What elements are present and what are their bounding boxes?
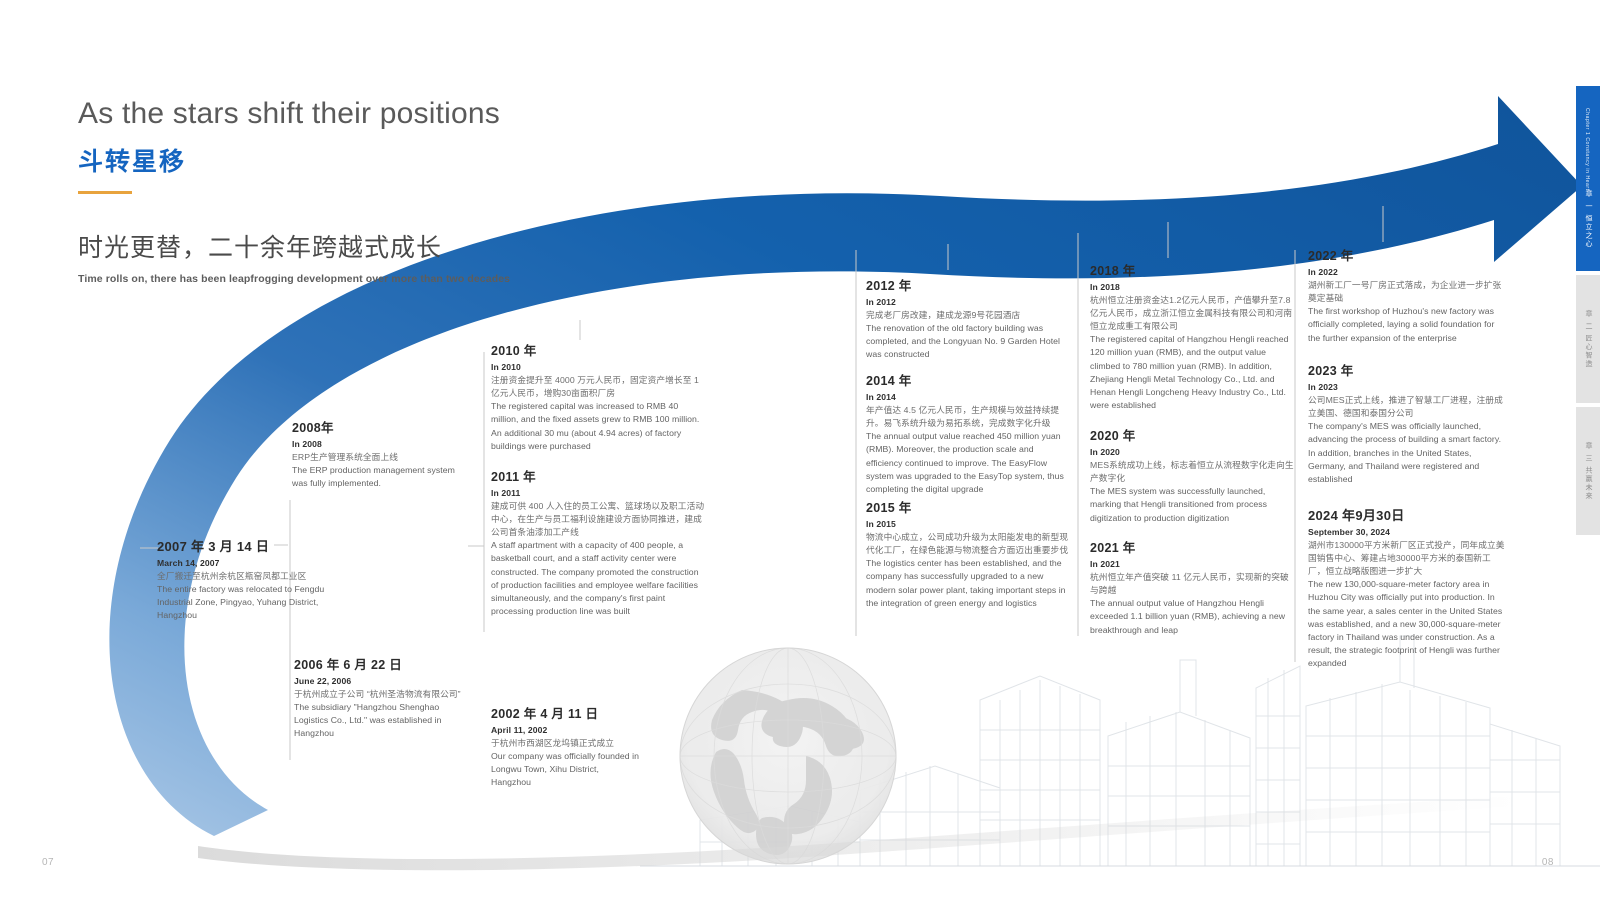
entry-text-en: The registered capital of Hangzhou Hengl… (1090, 333, 1295, 412)
entry-subtitle: In 2008 (292, 439, 460, 449)
chapter-tab-1-en: Chapter 1 Constancy in Heart (1584, 108, 1590, 191)
timeline-entry-2024: 2024 年9月30日 September 30, 2024 湖州市130000… (1308, 505, 1506, 671)
entry-subtitle: In 2022 (1308, 267, 1506, 277)
entry-text-cn: 湖州新工厂一号厂房正式落成，为企业进一步扩张奠定基础 (1308, 279, 1506, 305)
entry-subtitle: September 30, 2024 (1308, 527, 1506, 537)
chapter-tab-2-cn: 章 二 匠心智造 (1583, 310, 1593, 369)
chapter-tab-3-cn: 章 三 共赢未来 (1583, 442, 1593, 501)
page-canvas: As the stars shift their positions 斗转星移 … (0, 0, 1600, 916)
page-header: As the stars shift their positions 斗转星移 … (78, 96, 718, 285)
entry-text-cn: 杭州恒立注册资金达1.2亿元人民币，产值攀升至7.8 亿元人民币，成立浙江恒立金… (1090, 294, 1295, 333)
entry-text-en: A staff apartment with a capacity of 400… (491, 539, 707, 618)
entry-title: 2002 年 4 月 11 日 (491, 703, 641, 722)
entry-title: 2023 年 (1308, 360, 1506, 379)
entry-title: 2011 年 (491, 466, 707, 485)
timeline-entry-2015: 2015 年 In 2015 物流中心成立，公司成功升级为太阳能发电的新型现代化… (866, 497, 1071, 610)
timeline-entry-2014: 2014 年 In 2014 年产值达 4.5 亿元人民币，生产规模与效益持续提… (866, 370, 1071, 496)
entry-text-cn: 年产值达 4.5 亿元人民币，生产规模与效益持续提升。易飞系统升级为易拓系统，完… (866, 404, 1071, 430)
entry-title: 2018 年 (1090, 260, 1295, 279)
timeline-entry-2002: 2002 年 4 月 11 日 April 11, 2002 于杭州市西湖区龙坞… (491, 703, 641, 790)
subtitle-en: Time rolls on, there has been leapfroggi… (78, 273, 718, 285)
page-title-cn: 斗转星移 (78, 142, 718, 178)
entry-text-cn: MES系统成功上线，标志着恒立从流程数字化走向生产数字化 (1090, 459, 1295, 485)
timeline-entry-2008: 2008年 In 2008 ERP生产管理系统全面上线 The ERP prod… (292, 417, 460, 490)
entry-text-en: The new 130,000-square-meter factory are… (1308, 578, 1506, 671)
entry-text-en: The renovation of the old factory buildi… (866, 322, 1071, 362)
entry-text-en: The first workshop of Huzhou's new facto… (1308, 305, 1506, 345)
entry-title: 2020 年 (1090, 425, 1295, 444)
entry-subtitle: June 22, 2006 (294, 676, 462, 686)
timeline-entry-2021: 2021 年 In 2021 杭州恒立年产值突破 11 亿元人民币，实现新的突破… (1090, 537, 1295, 637)
chapter-tab-2[interactable]: 章 二 匠心智造 (1576, 275, 1600, 403)
entry-text-cn: 于杭州市西湖区龙坞镇正式成立 (491, 737, 641, 750)
arrow-tail-shadow (198, 796, 1520, 870)
entry-text-en: The entire factory was relocated to Feng… (157, 583, 325, 623)
entry-text-cn: 杭州恒立年产值突破 11 亿元人民币，实现新的突破与跨越 (1090, 571, 1295, 597)
globe-graphic (680, 648, 896, 864)
entry-subtitle: In 2012 (866, 297, 1071, 307)
entry-subtitle: In 2015 (866, 519, 1071, 529)
entry-title: 2012 年 (866, 275, 1071, 294)
entry-text-en: The registered capital was increased to … (491, 400, 707, 453)
entry-text-cn: 公司MES正式上线，推进了智慧工厂进程，注册成立美国、德国和泰国分公司 (1308, 394, 1506, 420)
timeline-entry-2007: 2007 年 3 月 14 日 March 14, 2007 全厂搬迁至杭州余杭… (157, 536, 325, 623)
chapter-tab-1[interactable]: Chapter 1 Constancy in Heart 章 一 恒立之心 (1576, 86, 1600, 271)
timeline-entry-2023: 2023 年 In 2023 公司MES正式上线，推进了智慧工厂进程，注册成立美… (1308, 360, 1506, 486)
page-number-right: 08 (1542, 857, 1554, 868)
entry-subtitle: In 2010 (491, 362, 707, 372)
timeline-entry-2011: 2011 年 In 2011 建成可供 400 人入住的员工公寓、篮球场以及职工… (491, 466, 707, 618)
entry-subtitle: In 2011 (491, 488, 707, 498)
timeline-entry-2022: 2022 年 In 2022 湖州新工厂一号厂房正式落成，为企业进一步扩张奠定基… (1308, 245, 1506, 345)
timeline-entry-2006: 2006 年 6 月 22 日 June 22, 2006 于杭州成立子公司 “… (294, 654, 462, 741)
entry-text-cn: 全厂搬迁至杭州余杭区瓶窑凤都工业区 (157, 570, 325, 583)
entry-subtitle: In 2021 (1090, 559, 1295, 569)
entry-text-cn: 建成可供 400 人入住的员工公寓、篮球场以及职工活动中心，在生产与员工福利设施… (491, 500, 707, 539)
title-underline (78, 191, 132, 194)
entry-subtitle: In 2018 (1090, 282, 1295, 292)
entry-title: 2021 年 (1090, 537, 1295, 556)
entry-text-en: The company's MES was officially launche… (1308, 420, 1506, 486)
entry-text-en: The ERP production management system was… (292, 464, 460, 490)
entry-text-en: The subsidiary "Hangzhou Shenghao Logist… (294, 701, 462, 741)
entry-subtitle: In 2014 (866, 392, 1071, 402)
page-title-en: As the stars shift their positions (78, 96, 718, 132)
entry-title: 2006 年 6 月 22 日 (294, 654, 462, 673)
timeline-entry-2012: 2012 年 In 2012 完成老厂房改建，建成龙源9号花园酒店 The re… (866, 275, 1071, 362)
entry-text-en: The logistics center has been establishe… (866, 557, 1071, 610)
entry-text-en: The annual output value of Hangzhou Heng… (1090, 597, 1295, 637)
entry-subtitle: April 11, 2002 (491, 725, 641, 735)
page-number-left: 07 (42, 857, 54, 868)
timeline-entry-2018: 2018 年 In 2018 杭州恒立注册资金达1.2亿元人民币，产值攀升至7.… (1090, 260, 1295, 412)
timeline-entry-2010: 2010 年 In 2010 注册资金提升至 4000 万元人民币，固定资产增长… (491, 340, 707, 453)
subtitle-cn: 时光更替，二十余年跨越式成长 (78, 228, 718, 264)
entry-subtitle: In 2020 (1090, 447, 1295, 457)
entry-title: 2022 年 (1308, 245, 1506, 264)
entry-text-en: Our company was officially founded in Lo… (491, 750, 641, 790)
entry-text-cn: 完成老厂房改建，建成龙源9号花园酒店 (866, 309, 1071, 322)
entry-text-cn: 湖州市130000平方米新厂区正式投产，同年成立美国销售中心、筹建占地30000… (1308, 539, 1506, 578)
chapter-tab-3[interactable]: 章 三 共赢未来 (1576, 407, 1600, 535)
entry-text-cn: 注册资金提升至 4000 万元人民币，固定资产增长至 1 亿元人民币，增购30亩… (491, 374, 707, 400)
entry-text-en: The annual output value reached 450 mill… (866, 430, 1071, 496)
entry-title: 2015 年 (866, 497, 1071, 516)
entry-text-cn: 物流中心成立，公司成功升级为太阳能发电的新型现代化工厂，在绿色能源与物流整合方面… (866, 531, 1071, 557)
entry-text-cn: ERP生产管理系统全面上线 (292, 451, 460, 464)
chapter-tabs: Chapter 1 Constancy in Heart 章 一 恒立之心 章 … (1576, 86, 1600, 535)
entry-title: 2007 年 3 月 14 日 (157, 536, 325, 555)
entry-subtitle: March 14, 2007 (157, 558, 325, 568)
entry-text-en: The MES system was successfully launched… (1090, 485, 1295, 525)
entry-title: 2010 年 (491, 340, 707, 359)
chapter-tab-1-cn: 章 一 恒立之心 (1583, 190, 1593, 249)
entry-title: 2024 年9月30日 (1308, 505, 1506, 524)
timeline-entry-2020: 2020 年 In 2020 MES系统成功上线，标志着恒立从流程数字化走向生产… (1090, 425, 1295, 525)
entry-title: 2014 年 (866, 370, 1071, 389)
entry-title: 2008年 (292, 417, 460, 436)
entry-text-cn: 于杭州成立子公司 “杭州圣浩物流有限公司” (294, 688, 462, 701)
entry-subtitle: In 2023 (1308, 382, 1506, 392)
